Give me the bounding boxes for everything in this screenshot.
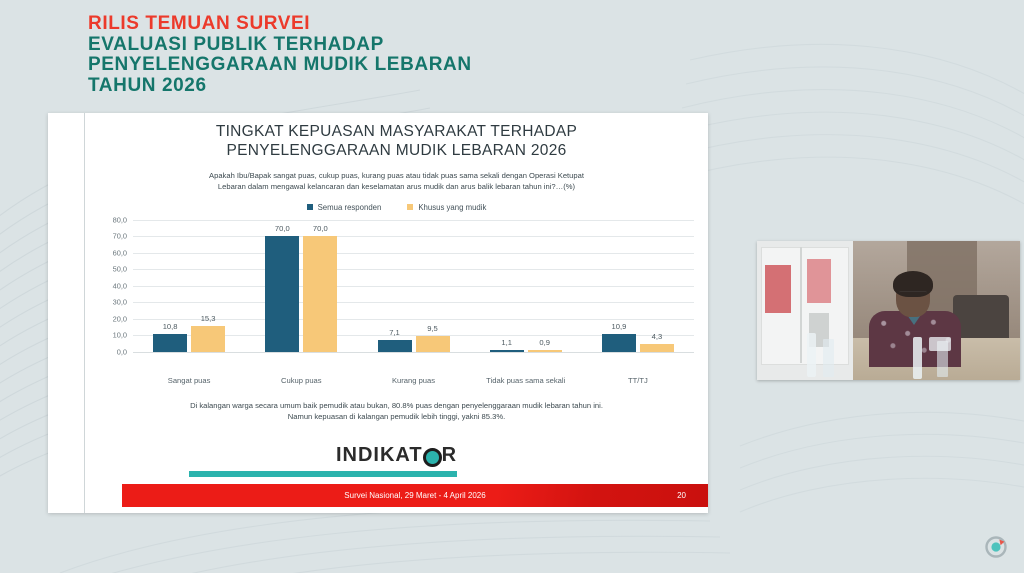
bar: 10,9 (602, 334, 636, 352)
x-axis-tick-label: Cukup puas (245, 376, 357, 386)
legend-label: Semua responden (318, 203, 382, 212)
headline-line-4: TAHUN 2026 (88, 76, 472, 97)
chart-footnote: Di kalangan warga secara umum baik pemud… (135, 400, 658, 424)
video-bottle (807, 333, 816, 377)
x-axis-labels: Sangat puasCukup puasKurang puasTidak pu… (133, 376, 694, 386)
x-axis-tick-label: Tidak puas sama sekali (470, 376, 582, 386)
bar-value-label: 0,9 (539, 338, 550, 347)
chart-title-line-1: TINGKAT KEPUASAN MASYARAKAT TERHADAP (85, 122, 708, 141)
bar-group: 1,10,9 (470, 220, 582, 352)
bar-group: 70,070,0 (245, 220, 357, 352)
legend-item-khusus-yang-mudik: Khusus yang mudik (407, 203, 486, 212)
x-axis-tick-label: TT/TJ (582, 376, 694, 386)
bar: 1,1 (490, 350, 524, 352)
slide-content-area: TINGKAT KEPUASAN MASYARAKAT TERHADAP PEN… (85, 113, 708, 513)
bar-value-label: 4,3 (652, 332, 663, 341)
y-axis-tick-label: 20,0 (113, 314, 127, 323)
bar: 10,8 (153, 334, 187, 352)
headline-line-2: EVALUASI PUBLIK TERHADAP (88, 35, 472, 56)
logo-teal-underline (189, 471, 457, 477)
slide-footer-bar: Survei Nasional, 29 Maret - 4 April 2026… (122, 484, 708, 507)
slide-page-number: 20 (677, 491, 686, 500)
footer-survey-info: Survei Nasional, 29 Maret - 4 April 2026 (344, 491, 485, 500)
chart-plot-area: 80,070,060,050,040,030,020,010,00,0 10,8… (99, 220, 694, 370)
bar-value-label: 70,0 (313, 224, 328, 233)
chart-title: TINGKAT KEPUASAN MASYARAKAT TERHADAP PEN… (85, 113, 708, 161)
bar-group: 10,815,3 (133, 220, 245, 352)
chart-title-line-2: PENYELENGGARAAN MUDIK LEBARAN 2026 (85, 141, 708, 160)
bar-value-label: 10,9 (612, 322, 627, 331)
gridline (133, 352, 694, 353)
y-axis-tick-label: 80,0 (113, 215, 127, 224)
headline-line-1: RILIS TEMUAN SURVEI (88, 14, 472, 35)
bar-value-label: 1,1 (501, 338, 512, 347)
video-glass (823, 339, 834, 377)
bar: 15,3 (191, 326, 225, 351)
chart-subtitle-line-1: Apakah Ibu/Bapak sangat puas, cukup puas… (129, 170, 665, 181)
x-axis-tick-label: Kurang puas (357, 376, 469, 386)
footnote-line-1: Di kalangan warga secara umum baik pemud… (135, 400, 658, 412)
y-axis-tick-label: 70,0 (113, 232, 127, 241)
x-axis-tick-label: Sangat puas (133, 376, 245, 386)
footnote-line-2: Namun kepuasan di kalangan pemudik lebih… (135, 411, 658, 423)
chart-subtitle: Apakah Ibu/Bapak sangat puas, cukup puas… (129, 170, 665, 193)
y-axis-tick-label: 40,0 (113, 281, 127, 290)
video-chair (953, 295, 1009, 343)
bar-groups: 10,815,370,070,07,19,51,10,910,94,3 (133, 220, 694, 352)
logo-ring-icon (423, 448, 442, 467)
video-bottle (913, 337, 922, 379)
speaker-video-thumbnail[interactable] (757, 241, 1020, 380)
logo-wordmark: INDIKAT R (336, 444, 457, 467)
y-axis-tick-label: 60,0 (113, 248, 127, 257)
video-poster-red (765, 265, 791, 313)
bar-value-label: 10,8 (163, 322, 178, 331)
bar: 4,3 (640, 344, 674, 351)
bar: 70,0 (265, 236, 299, 352)
legend-swatch-icon (407, 204, 413, 210)
bar: 9,5 (416, 336, 450, 352)
legend-swatch-icon (307, 204, 313, 210)
bar-value-label: 70,0 (275, 224, 290, 233)
legend-item-semua-responden: Semua responden (307, 203, 382, 212)
video-poster-red-2 (807, 259, 831, 303)
video-cabinet-divider (800, 247, 802, 363)
bar: 70,0 (303, 236, 337, 352)
bar: 0,9 (528, 350, 562, 351)
y-axis-tick-label: 10,0 (113, 331, 127, 340)
bar: 7,1 (378, 340, 412, 352)
y-axis-tick-label: 0,0 (117, 347, 127, 356)
legend-label: Khusus yang mudik (418, 203, 486, 212)
bar-value-label: 15,3 (201, 314, 216, 323)
bar-value-label: 9,5 (427, 324, 438, 333)
headline-line-3: PENYELENGGARAAN MUDIK LEBARAN (88, 55, 472, 76)
bar-group: 10,94,3 (582, 220, 694, 352)
corner-watermark-logo-icon (984, 535, 1008, 559)
logo-text-right: R (442, 444, 457, 467)
video-person-glasses-icon (899, 291, 927, 299)
y-axis-tick-label: 50,0 (113, 265, 127, 274)
headline-block: RILIS TEMUAN SURVEI EVALUASI PUBLIK TERH… (88, 14, 472, 96)
y-axis-tick-label: 30,0 (113, 298, 127, 307)
presentation-slide: TINGKAT KEPUASAN MASYARAKAT TERHADAP PEN… (48, 113, 708, 513)
chart-subtitle-line-2: Lebaran dalam mengawal kelancaran dan ke… (129, 181, 665, 192)
y-axis: 80,070,060,050,040,030,020,010,00,0 (99, 220, 131, 352)
video-tissue-box (929, 337, 951, 351)
indikator-logo: INDIKAT R (85, 444, 708, 467)
logo-text-left: INDIKAT (336, 444, 423, 467)
bar-group: 7,19,5 (357, 220, 469, 352)
bar-value-label: 7,1 (389, 328, 400, 337)
chart-legend: Semua responden Khusus yang mudik (85, 203, 708, 212)
